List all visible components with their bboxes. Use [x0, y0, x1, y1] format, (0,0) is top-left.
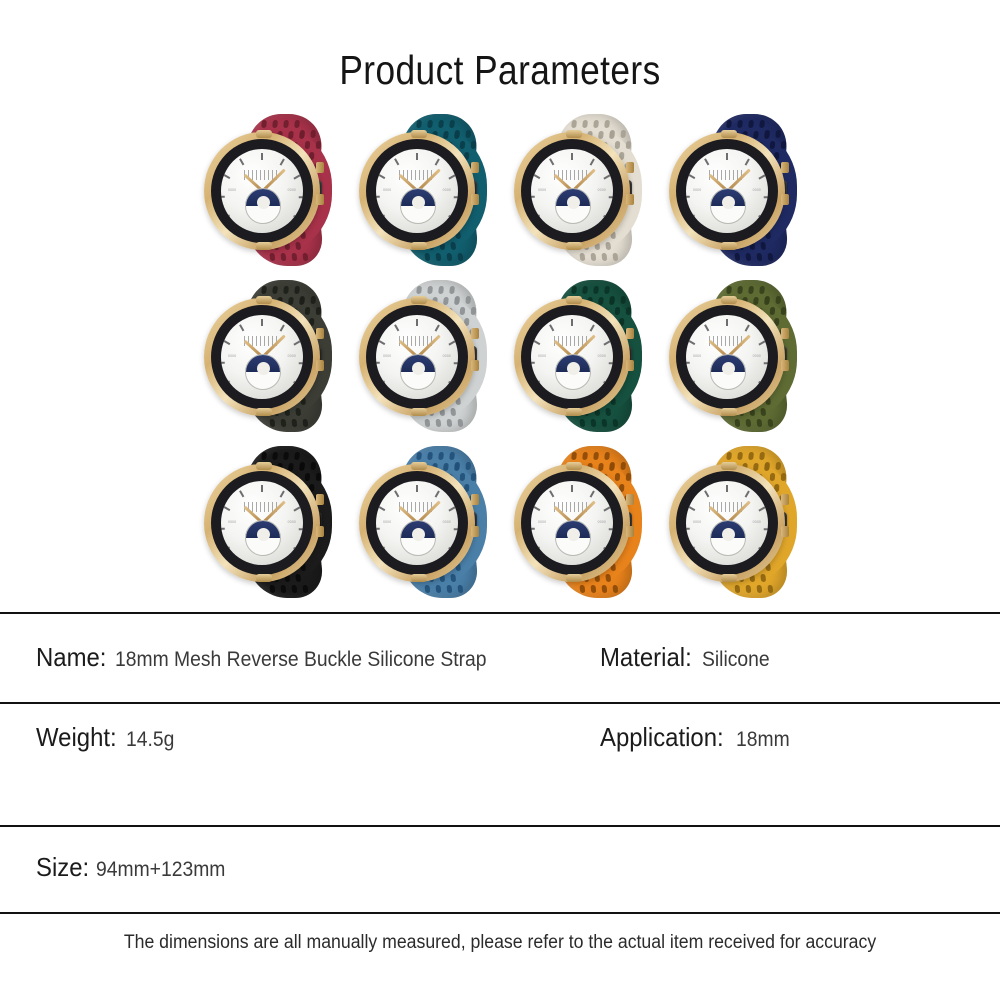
dial-tick [549, 229, 554, 233]
bezel: 00000000 [211, 139, 313, 243]
divider-bottom [0, 912, 1000, 914]
dial-micro-text-right: 0000 [288, 354, 296, 358]
dial-tick [590, 395, 595, 399]
watch-color-option-navy-blue[interactable]: 00000000 [661, 108, 814, 272]
dial-tick [416, 153, 418, 160]
dial-tick [379, 506, 386, 511]
watch-case: 00000000 [359, 464, 475, 582]
moon-phase-icon [556, 521, 590, 538]
crown-icon [626, 328, 634, 339]
moon-phase-icon [246, 189, 280, 206]
dial-tick [299, 362, 303, 364]
dial-tick [280, 325, 285, 332]
lug-top [566, 296, 582, 304]
dial-tick [571, 485, 573, 492]
dial-tick [609, 528, 613, 530]
dial-tick [704, 395, 709, 399]
spec-value-weight: 14.5g [126, 728, 174, 752]
watch-dial: 00000000 [221, 315, 303, 399]
watch-image: 00000000 [661, 274, 814, 438]
dial-tick [379, 340, 386, 345]
watch-case: 00000000 [514, 132, 630, 250]
dial-tick [689, 506, 696, 511]
dial-tick [221, 362, 225, 364]
bezel: 00000000 [521, 139, 623, 243]
moon-phase-icon [711, 355, 745, 372]
dial-tick [759, 174, 766, 179]
dial-tick [549, 159, 554, 166]
dial-tick [689, 381, 696, 386]
spec-label-weight: Weight: [36, 722, 117, 753]
dial-tick [534, 174, 541, 179]
dial-tick [449, 174, 456, 179]
pusher-icon [471, 526, 479, 537]
dial-tick [435, 325, 440, 332]
dial-micro-text-right: 0000 [753, 354, 761, 358]
moon-phase-icon [246, 521, 280, 538]
dial-tick [294, 340, 301, 345]
dial-tick [280, 159, 285, 166]
dial-tick [571, 319, 573, 326]
divider-top [0, 612, 1000, 614]
dial-tick [261, 319, 263, 326]
bezel: 00000000 [211, 471, 313, 575]
dial-tick [531, 528, 535, 530]
watch-image: 00000000 [196, 440, 349, 604]
dial-micro-text-left: 0000 [383, 354, 391, 358]
dial-tick [745, 395, 750, 399]
moon-phase-subdial [555, 188, 591, 224]
lug-top [411, 462, 427, 470]
dial-tick [534, 340, 541, 345]
dial-tick [764, 196, 768, 198]
moon-phase-subdial [555, 354, 591, 390]
dial-tick [224, 381, 231, 386]
pusher-icon [626, 194, 634, 205]
dial-tick [726, 319, 728, 326]
dial-tick [379, 547, 386, 552]
lug-bottom [566, 242, 582, 250]
lug-bottom [411, 408, 427, 416]
crown-icon [316, 162, 324, 173]
dial-micro-text-right: 0000 [598, 188, 606, 192]
dial-tick [745, 325, 750, 332]
watch-color-option-black[interactable]: 00000000 [196, 440, 349, 604]
divider-weight-size [0, 825, 1000, 827]
dial-tick [689, 547, 696, 552]
crown-icon [471, 494, 479, 505]
dial-tick [534, 506, 541, 511]
dial-tick [294, 506, 301, 511]
dial-tick [686, 196, 690, 198]
dial-tick [745, 229, 750, 233]
crown-icon [316, 328, 324, 339]
pusher-icon [781, 360, 789, 371]
dial-tick [435, 491, 440, 498]
dial-tick [571, 153, 573, 160]
dial-tick [590, 229, 595, 233]
lug-top [411, 296, 427, 304]
moon-phase-subdial [710, 188, 746, 224]
spec-cell-name: Name: 18mm Mesh Reverse Buckle Silicone … [36, 642, 518, 673]
dial-micro-text-right: 0000 [753, 188, 761, 192]
dial-micro-text-left: 0000 [538, 520, 546, 524]
crown-icon [626, 494, 634, 505]
dial-micro-text-right: 0000 [443, 188, 451, 192]
watch-dial: 00000000 [531, 481, 613, 565]
moon-phase-icon [401, 355, 435, 372]
moon-phase-subdial [245, 188, 281, 224]
watch-color-gallery: 0000000000000000000000000000000000000000… [196, 108, 808, 600]
dial-tick [704, 229, 709, 233]
pusher-icon [316, 194, 324, 205]
dial-tick [239, 229, 244, 233]
dial-tick [704, 491, 709, 498]
spec-label-material: Material: [600, 642, 692, 673]
dial-tick [394, 159, 399, 166]
dial-micro-text-right: 0000 [288, 520, 296, 524]
dial-tick [376, 528, 380, 530]
spec-label-size: Size: [36, 852, 89, 883]
dial-tick [221, 528, 225, 530]
moon-phase-icon [556, 189, 590, 206]
dial-micro-text-right: 0000 [753, 520, 761, 524]
watch-dial: 00000000 [221, 149, 303, 233]
dial-tick [590, 159, 595, 166]
pusher-icon [781, 526, 789, 537]
dial-tick [280, 229, 285, 233]
watch-case: 00000000 [669, 464, 785, 582]
dial-tick [590, 325, 595, 332]
crown-icon [316, 494, 324, 505]
moon-phase-subdial [710, 354, 746, 390]
watch-case: 00000000 [669, 298, 785, 416]
crown-icon [471, 162, 479, 173]
dial-tick [590, 491, 595, 498]
pusher-icon [781, 194, 789, 205]
dial-tick [454, 362, 458, 364]
dial-tick [449, 381, 456, 386]
dial-tick [609, 196, 613, 198]
dial-tick [379, 174, 386, 179]
crown-icon [781, 494, 789, 505]
dial-tick [224, 547, 231, 552]
dial-tick [239, 395, 244, 399]
dial-tick [531, 362, 535, 364]
dial-tick [689, 215, 696, 220]
lug-bottom [411, 574, 427, 582]
watch-case: 00000000 [514, 464, 630, 582]
dial-micro-text-left: 0000 [383, 188, 391, 192]
watch-dial: 00000000 [531, 149, 613, 233]
dial-tick [239, 491, 244, 498]
watch-case: 00000000 [359, 298, 475, 416]
watch-image: 00000000 [506, 108, 659, 272]
watch-case: 00000000 [359, 132, 475, 250]
bezel: 00000000 [521, 305, 623, 409]
lug-top [721, 296, 737, 304]
watch-dial: 00000000 [221, 481, 303, 565]
dial-tick [224, 174, 231, 179]
dial-tick [239, 561, 244, 565]
lug-bottom [721, 242, 737, 250]
dial-micro-text-left: 0000 [228, 188, 236, 192]
dial-tick [549, 561, 554, 565]
crown-icon [781, 162, 789, 173]
dial-tick [534, 215, 541, 220]
dial-tick [294, 381, 301, 386]
dial-tick [416, 485, 418, 492]
crown-icon [471, 328, 479, 339]
dial-tick [221, 196, 225, 198]
watch-case: 00000000 [514, 298, 630, 416]
pusher-icon [471, 360, 479, 371]
dial-tick [224, 340, 231, 345]
dial-micro-text-left: 0000 [538, 188, 546, 192]
watch-color-option-steel-blue[interactable]: 00000000 [351, 440, 504, 604]
divider-name-weight [0, 702, 1000, 704]
watch-image: 00000000 [196, 274, 349, 438]
lug-bottom [256, 574, 272, 582]
lug-top [566, 462, 582, 470]
dial-tick [239, 159, 244, 166]
lug-bottom [411, 242, 427, 250]
dial-tick [759, 381, 766, 386]
spec-value-application: 18mm [736, 728, 790, 752]
dial-tick [299, 528, 303, 530]
bezel: 00000000 [366, 139, 468, 243]
dial-tick [745, 491, 750, 498]
dial-tick [435, 395, 440, 399]
dial-tick [435, 229, 440, 233]
dial-micro-text-left: 0000 [228, 520, 236, 524]
watch-dial: 00000000 [531, 315, 613, 399]
moon-phase-subdial [400, 188, 436, 224]
dial-tick [604, 340, 611, 345]
watch-image: 00000000 [506, 440, 659, 604]
dial-tick [759, 506, 766, 511]
dial-tick [376, 196, 380, 198]
dial-tick [379, 215, 386, 220]
dial-tick [261, 153, 263, 160]
dial-tick [759, 340, 766, 345]
dial-tick [449, 506, 456, 511]
watch-color-option-red[interactable]: 00000000 [196, 108, 349, 272]
dial-tick [454, 196, 458, 198]
dial-tick [299, 196, 303, 198]
dial-micro-text-left: 0000 [693, 354, 701, 358]
bezel: 00000000 [366, 471, 468, 575]
dial-tick [376, 362, 380, 364]
watch-dial: 00000000 [376, 149, 458, 233]
dial-tick [604, 506, 611, 511]
dial-tick [604, 381, 611, 386]
moon-phase-subdial [710, 520, 746, 556]
moon-phase-icon [246, 355, 280, 372]
dial-micro-text-left: 0000 [693, 520, 701, 524]
dial-tick [686, 362, 690, 364]
crown-icon [626, 162, 634, 173]
dial-tick [534, 381, 541, 386]
spec-cell-weight: Weight: 14.5g [36, 722, 178, 753]
dial-micro-text-left: 0000 [538, 354, 546, 358]
dial-tick [280, 561, 285, 565]
moon-phase-subdial [400, 354, 436, 390]
watch-case: 00000000 [669, 132, 785, 250]
moon-phase-subdial [245, 354, 281, 390]
dial-tick [294, 547, 301, 552]
moon-phase-subdial [400, 520, 436, 556]
dial-tick [689, 340, 696, 345]
dial-tick [745, 159, 750, 166]
dial-tick [449, 215, 456, 220]
pusher-icon [316, 526, 324, 537]
bezel: 00000000 [676, 471, 778, 575]
dial-tick [394, 229, 399, 233]
dial-tick [726, 153, 728, 160]
dial-tick [454, 528, 458, 530]
watch-dial: 00000000 [686, 315, 768, 399]
dial-tick [280, 491, 285, 498]
bezel: 00000000 [676, 305, 778, 409]
dial-tick [686, 528, 690, 530]
dial-tick [764, 362, 768, 364]
dial-tick [261, 485, 263, 492]
page-title: Product Parameters [70, 0, 930, 96]
spec-cell-material: Material: Silicone [600, 642, 775, 673]
crown-icon [781, 328, 789, 339]
bezel: 00000000 [211, 305, 313, 409]
watch-color-option-dark-green[interactable]: 00000000 [506, 274, 659, 438]
dial-tick [609, 362, 613, 364]
watch-color-option-starlight[interactable]: 00000000 [506, 108, 659, 272]
spec-value-size: 94mm+123mm [96, 858, 225, 882]
dial-tick [726, 485, 728, 492]
lug-bottom [256, 408, 272, 416]
dial-tick [294, 215, 301, 220]
dial-tick [224, 506, 231, 511]
dial-tick [704, 561, 709, 565]
moon-phase-icon [711, 521, 745, 538]
dial-tick [449, 547, 456, 552]
lug-top [721, 130, 737, 138]
lug-top [411, 130, 427, 138]
watch-image: 00000000 [196, 108, 349, 272]
dial-tick [759, 215, 766, 220]
dial-tick [435, 561, 440, 565]
spec-label-application: Application: [600, 722, 724, 753]
dial-tick [449, 340, 456, 345]
pusher-icon [471, 194, 479, 205]
dial-tick [689, 174, 696, 179]
dial-tick [604, 547, 611, 552]
dial-tick [239, 325, 244, 332]
moon-phase-icon [401, 189, 435, 206]
dial-tick [394, 395, 399, 399]
dial-tick [294, 174, 301, 179]
lug-bottom [566, 408, 582, 416]
spec-cell-size: Size: 94mm+123mm [36, 852, 236, 883]
dial-tick [394, 325, 399, 332]
watch-image: 00000000 [661, 108, 814, 272]
dial-tick [704, 325, 709, 332]
spec-value-name: 18mm Mesh Reverse Buckle Silicone Strap [115, 648, 487, 672]
measurement-disclaimer: The dimensions are all manually measured… [35, 932, 965, 954]
dial-tick [549, 491, 554, 498]
spec-value-material: Silicone [702, 648, 770, 672]
lug-top [256, 462, 272, 470]
spec-cell-application: Application: 18mm [600, 722, 795, 753]
watch-dial: 00000000 [376, 481, 458, 565]
pusher-icon [626, 526, 634, 537]
pusher-icon [626, 360, 634, 371]
moon-phase-subdial [555, 520, 591, 556]
lug-bottom [721, 408, 737, 416]
dial-tick [531, 196, 535, 198]
dial-micro-text-right: 0000 [288, 188, 296, 192]
dial-micro-text-right: 0000 [598, 354, 606, 358]
dial-tick [764, 528, 768, 530]
dial-micro-text-right: 0000 [598, 520, 606, 524]
watch-dial: 00000000 [686, 149, 768, 233]
watch-color-option-mustard[interactable]: 00000000 [661, 440, 814, 604]
dial-tick [604, 215, 611, 220]
watch-case: 00000000 [204, 464, 320, 582]
spec-label-name: Name: [36, 642, 106, 673]
watch-color-option-orange[interactable]: 00000000 [506, 440, 659, 604]
dial-tick [745, 561, 750, 565]
lug-top [721, 462, 737, 470]
watch-dial: 00000000 [686, 481, 768, 565]
bezel: 00000000 [676, 139, 778, 243]
watch-case: 00000000 [204, 298, 320, 416]
watch-image: 00000000 [351, 108, 504, 272]
watch-case: 00000000 [204, 132, 320, 250]
dial-tick [604, 174, 611, 179]
dial-tick [435, 159, 440, 166]
watch-color-option-teal[interactable]: 00000000 [351, 108, 504, 272]
moon-phase-icon [556, 355, 590, 372]
dial-tick [224, 215, 231, 220]
bezel: 00000000 [366, 305, 468, 409]
watch-image: 00000000 [506, 274, 659, 438]
dial-tick [549, 395, 554, 399]
lug-bottom [566, 574, 582, 582]
dial-tick [416, 319, 418, 326]
watch-color-option-light-grey[interactable]: 00000000 [351, 274, 504, 438]
dial-tick [534, 547, 541, 552]
watch-image: 00000000 [661, 440, 814, 604]
watch-color-option-army-green[interactable]: 00000000 [661, 274, 814, 438]
watch-color-option-dark-grey[interactable]: 00000000 [196, 274, 349, 438]
moon-phase-icon [401, 521, 435, 538]
lug-top [566, 130, 582, 138]
dial-tick [394, 561, 399, 565]
lug-bottom [721, 574, 737, 582]
watch-image: 00000000 [351, 440, 504, 604]
dial-tick [759, 547, 766, 552]
moon-phase-icon [711, 189, 745, 206]
dial-micro-text-left: 0000 [383, 520, 391, 524]
dial-tick [704, 159, 709, 166]
dial-tick [590, 561, 595, 565]
lug-top [256, 296, 272, 304]
watch-image: 00000000 [351, 274, 504, 438]
bezel: 00000000 [521, 471, 623, 575]
moon-phase-subdial [245, 520, 281, 556]
dial-micro-text-right: 0000 [443, 354, 451, 358]
pusher-icon [316, 360, 324, 371]
